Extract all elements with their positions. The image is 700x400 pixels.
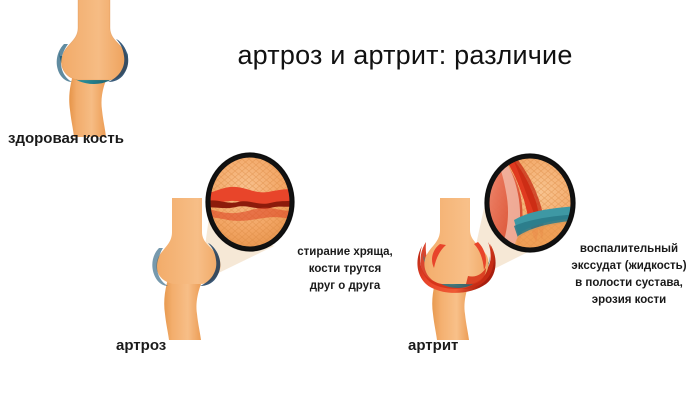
arthrosis-caption-line-2: кости трутся (262, 261, 428, 278)
arthritis-caption-line-3: в полости сустава, (558, 275, 700, 292)
page-title: артроз и артрит: различие (205, 40, 605, 71)
arthrosis-magnifier-content (200, 150, 300, 254)
arthritis-caption-line-4: эрозия кости (558, 292, 700, 309)
arthrosis-caption: стирание хряща, кости трутся друг о друг… (262, 244, 428, 295)
arthritis-caption: воспалительный экссудат (жидкость) в пол… (558, 241, 700, 309)
label-arthrosis: артроз (116, 337, 166, 354)
arthrosis-caption-line-1: стирание хряща, (262, 244, 428, 261)
arthritis-caption-line-1: воспалительный (558, 241, 700, 258)
arthrosis-magnifier (200, 150, 300, 254)
label-arthritis: артрит (408, 337, 458, 354)
illustration-canvas: артроз и артрит: различие (0, 0, 700, 400)
healthy-bone-figure (48, 0, 140, 137)
arthrosis-caption-line-3: друг о друга (262, 278, 428, 295)
label-healthy-bone: здоровая кость (8, 130, 124, 147)
arthritis-caption-line-2: экссудат (жидкость) (558, 258, 700, 275)
